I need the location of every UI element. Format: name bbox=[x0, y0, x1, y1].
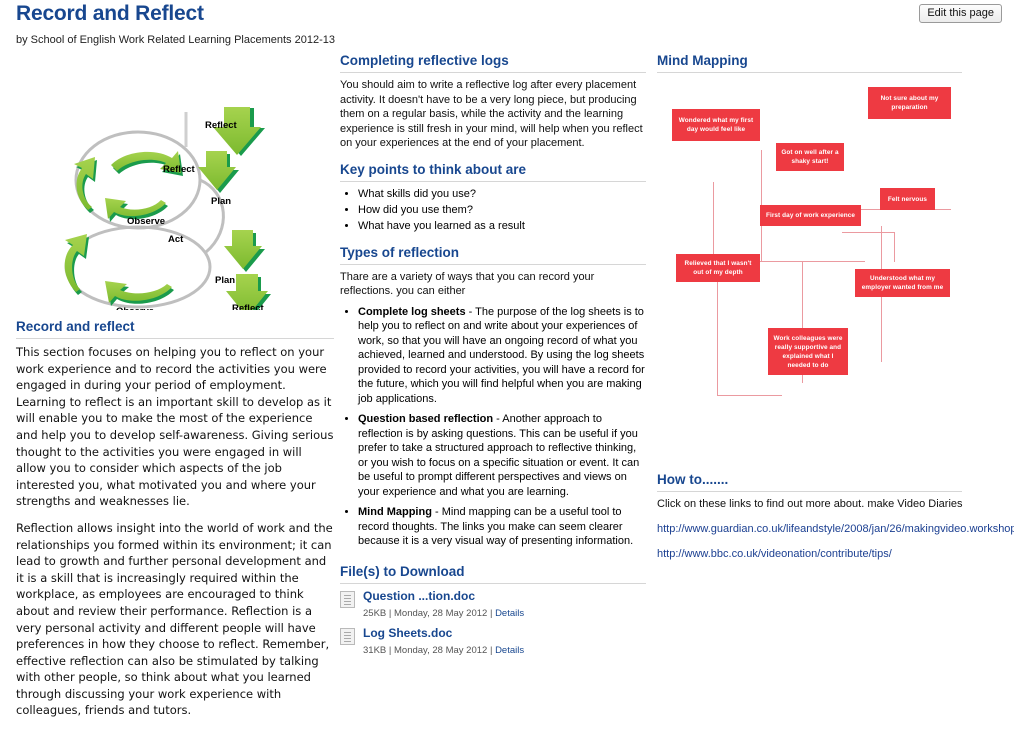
reflective-cycle-diagram: Reflect Reflect Plan Observe Act Plan Ob… bbox=[16, 52, 334, 310]
list-item-text: The purpose of the log sheets is to help… bbox=[358, 306, 645, 405]
mindmap-box-relieved-not-out-of-depth: Relieved that I wasn't out of my depth bbox=[676, 254, 760, 282]
record-and-reflect-paragraph-1: This section focuses on helping you to r… bbox=[16, 344, 334, 510]
mindmap-box-wondered-first-day: Wondered what my first day would feel li… bbox=[672, 109, 760, 141]
diagram-label-reflect-upper: Reflect bbox=[163, 164, 196, 175]
divider bbox=[340, 181, 646, 182]
diagram-label-reflect-lower: Reflect bbox=[232, 303, 265, 310]
how-to-heading: How to....... bbox=[657, 471, 1014, 489]
list-item: Question based reflection - Another appr… bbox=[358, 412, 646, 499]
diagram-label-plan-lower: Plan bbox=[215, 275, 235, 286]
divider bbox=[340, 72, 646, 73]
file-date: Monday, 28 May 2012 bbox=[394, 608, 487, 619]
mm-connector bbox=[717, 395, 782, 396]
divider bbox=[340, 583, 646, 584]
arrow-act-lower bbox=[105, 281, 174, 306]
file-name-link[interactable]: Question ...tion.doc bbox=[363, 589, 524, 603]
completing-logs-paragraph: You should aim to write a reflective log… bbox=[340, 78, 646, 151]
mindmap-box-understood-employer: Understood what my employer wanted from … bbox=[855, 269, 950, 297]
key-points-list: What skills did you use? How did you use… bbox=[340, 187, 646, 234]
left-column: Reflect Reflect Plan Observe Act Plan Ob… bbox=[16, 52, 334, 729]
arrow-observe-lower bbox=[65, 234, 89, 295]
document-icon bbox=[340, 628, 355, 645]
divider bbox=[657, 491, 962, 492]
file-details-link[interactable]: Details bbox=[495, 645, 524, 656]
file-meta-sep: | bbox=[487, 645, 495, 656]
right-column: Mind Mapping Not sure about my preparati… bbox=[657, 52, 1014, 572]
file-meta: 31KB | Monday, 28 May 2012 | Details bbox=[363, 645, 524, 656]
file-meta: 25KB | Monday, 28 May 2012 | Details bbox=[363, 608, 524, 619]
list-item-term: Complete log sheets bbox=[358, 306, 466, 318]
mindmap-box-got-on-well: Got on well after a shaky start! bbox=[776, 143, 844, 171]
middle-column: Completing reflective logs You should ai… bbox=[340, 52, 646, 663]
external-link-bbc[interactable]: http://www.bbc.co.uk/videonation/contrib… bbox=[657, 547, 1014, 561]
how-to-intro: Click on these links to find out more ab… bbox=[657, 497, 1014, 512]
arrow-plan-upper bbox=[198, 151, 239, 193]
list-item: What skills did you use? bbox=[358, 187, 646, 202]
mm-connector bbox=[713, 182, 714, 262]
diagram-label-act-upper: Act bbox=[168, 234, 184, 245]
list-item: Mind Mapping - Mind mapping can be a use… bbox=[358, 505, 646, 549]
list-item-dash: - bbox=[493, 413, 502, 425]
divider bbox=[340, 264, 646, 265]
external-link-guardian[interactable]: http://www.guardian.co.uk/lifeandstyle/2… bbox=[657, 522, 1014, 536]
file-info: Log Sheets.doc 31KB | Monday, 28 May 201… bbox=[363, 626, 524, 658]
diagram-label-reflect-top: Reflect bbox=[205, 120, 238, 131]
divider bbox=[16, 338, 334, 339]
file-list-item[interactable]: Log Sheets.doc 31KB | Monday, 28 May 201… bbox=[340, 626, 646, 658]
list-item: What have you learned as a result bbox=[358, 219, 646, 234]
page-title: Record and Reflect bbox=[16, 2, 204, 26]
file-size: 25KB bbox=[363, 608, 386, 619]
arrow-reflect-top bbox=[213, 107, 265, 156]
mm-connector bbox=[842, 232, 894, 233]
mm-connector bbox=[894, 232, 895, 262]
key-points-heading: Key points to think about are bbox=[340, 161, 646, 179]
mind-map-diagram: Not sure about my preparationWondered wh… bbox=[657, 79, 987, 459]
mindmap-box-not-sure-preparation: Not sure about my preparation bbox=[868, 87, 951, 119]
completing-logs-heading: Completing reflective logs bbox=[340, 52, 646, 70]
divider bbox=[657, 72, 962, 73]
arrow-observe-upper bbox=[74, 157, 97, 213]
file-meta-sep: | bbox=[487, 608, 495, 619]
file-meta-sep: | bbox=[386, 608, 394, 619]
mindmap-box-work-colleagues-supportive: Work colleagues were really supportive a… bbox=[768, 328, 848, 375]
types-of-reflection-heading: Types of reflection bbox=[340, 244, 646, 262]
file-list-item[interactable]: Question ...tion.doc 25KB | Monday, 28 M… bbox=[340, 589, 646, 621]
mm-connector bbox=[717, 273, 718, 396]
file-info: Question ...tion.doc 25KB | Monday, 28 M… bbox=[363, 589, 524, 621]
list-item-term: Question based reflection bbox=[358, 413, 493, 425]
files-to-download-heading: File(s) to Download bbox=[340, 563, 646, 581]
file-meta-sep: | bbox=[386, 645, 394, 656]
list-item-dash: - bbox=[432, 506, 442, 518]
record-and-reflect-heading: Record and reflect bbox=[16, 318, 334, 336]
file-size: 31KB bbox=[363, 645, 386, 656]
page-byline: by School of English Work Related Learni… bbox=[16, 34, 335, 46]
file-details-link[interactable]: Details bbox=[495, 608, 524, 619]
list-item-term: Mind Mapping bbox=[358, 506, 432, 518]
file-date: Monday, 28 May 2012 bbox=[394, 645, 487, 656]
record-and-reflect-paragraph-2: Reflection allows insight into the world… bbox=[16, 520, 334, 719]
list-item: How did you use them? bbox=[358, 203, 646, 218]
list-item-text: Another approach to reflection is by ask… bbox=[358, 413, 639, 498]
arrow-plan-lower bbox=[224, 230, 265, 272]
mindmap-box-first-day-work-experience: First day of work experience bbox=[760, 205, 861, 226]
diagram-label-observe-lower: Observe bbox=[116, 306, 154, 310]
page-root: Record and Reflect by School of English … bbox=[0, 0, 1014, 714]
diagram-label-observe-upper: Observe bbox=[127, 216, 165, 227]
edit-this-page-button[interactable]: Edit this page bbox=[919, 4, 1002, 23]
types-of-reflection-intro: Thare are a variety of ways that you can… bbox=[340, 270, 646, 299]
file-name-link[interactable]: Log Sheets.doc bbox=[363, 626, 524, 640]
diagram-label-plan-upper: Plan bbox=[211, 196, 231, 207]
list-item-dash: - bbox=[466, 306, 476, 318]
types-of-reflection-list: Complete log sheets - The purpose of the… bbox=[340, 305, 646, 549]
mindmap-box-felt-nervous: Felt nervous bbox=[880, 188, 935, 210]
document-icon bbox=[340, 591, 355, 608]
mind-mapping-heading: Mind Mapping bbox=[657, 52, 1014, 70]
list-item: Complete log sheets - The purpose of the… bbox=[358, 305, 646, 407]
